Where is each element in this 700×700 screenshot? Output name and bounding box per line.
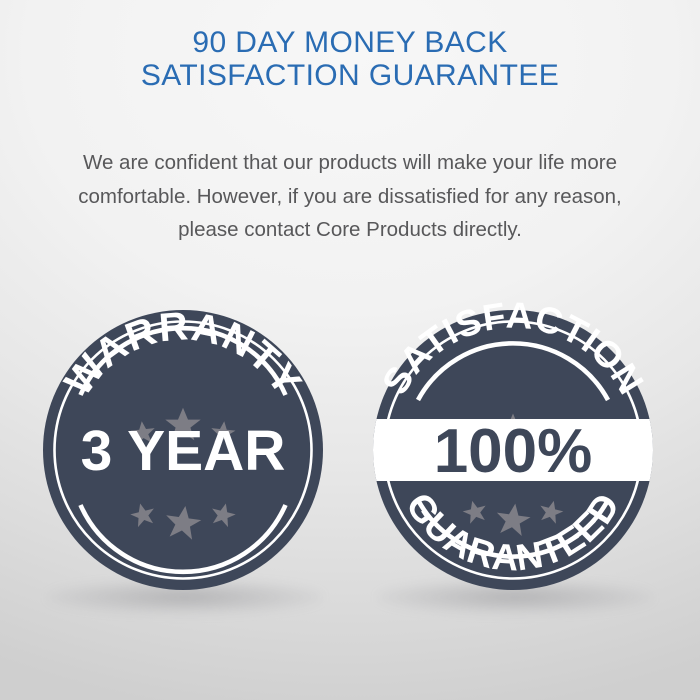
- warranty-badge-graphic: WARRANTY 3 YEAR: [33, 300, 333, 600]
- satisfaction-badge: SATISFACTION GUARANTEED 100%: [363, 300, 663, 600]
- page-headline: 90 DAY MONEY BACK SATISFACTION GUARANTEE: [0, 26, 700, 92]
- headline-line-1: 90 DAY MONEY BACK: [0, 26, 700, 59]
- badge-row: WARRANTY 3 YEAR: [0, 300, 700, 620]
- warranty-center-text: 3 YEAR: [81, 419, 286, 483]
- headline-line-2: SATISFACTION GUARANTEE: [0, 59, 700, 92]
- body-copy: We are confident that our products will …: [0, 146, 700, 247]
- body-copy-line-1: We are confident that our products will …: [0, 146, 700, 180]
- body-copy-line-2: comfortable. However, if you are dissati…: [0, 180, 700, 214]
- warranty-badge: WARRANTY 3 YEAR: [33, 300, 333, 600]
- satisfaction-center-text: 100%: [434, 417, 593, 486]
- satisfaction-badge-graphic: SATISFACTION GUARANTEED 100%: [363, 300, 663, 600]
- body-copy-line-3: please contact Core Products directly.: [0, 213, 700, 247]
